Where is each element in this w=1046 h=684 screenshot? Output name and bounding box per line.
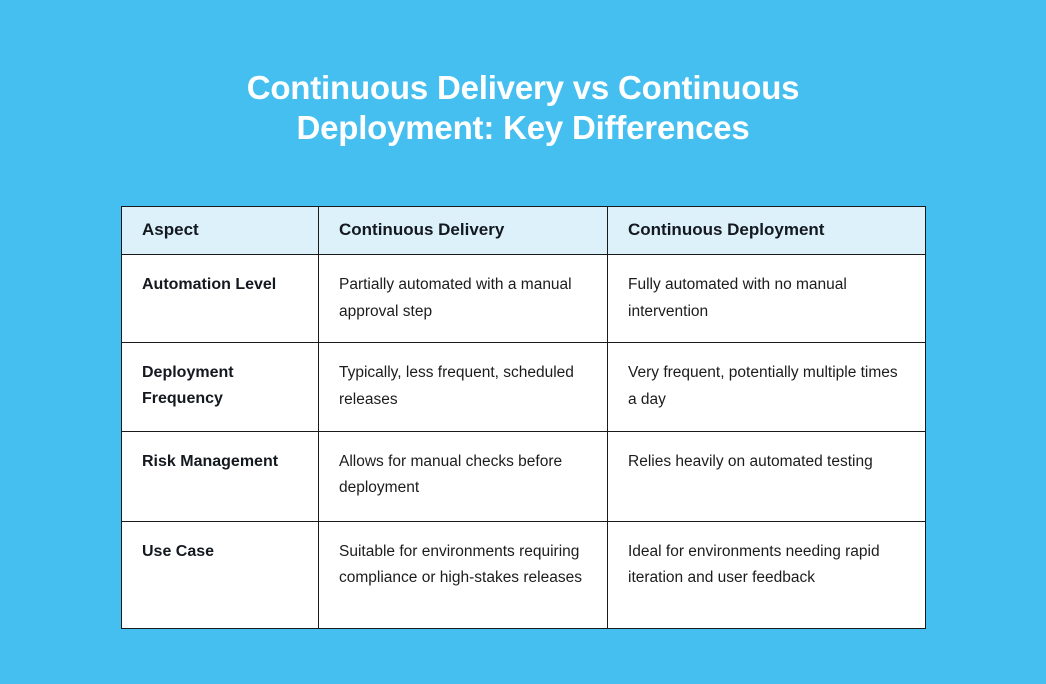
cell-continuous-deployment: Fully automated with no manual intervent…	[608, 255, 926, 343]
cell-continuous-deployment: Ideal for environments needing rapid ite…	[608, 521, 926, 628]
table-row: Deployment Frequency Typically, less fre…	[122, 343, 926, 431]
cell-aspect: Deployment Frequency	[122, 343, 319, 431]
cell-aspect: Use Case	[122, 521, 319, 628]
infographic-page: Continuous Delivery vs Continuous Deploy…	[0, 0, 1046, 684]
column-header-continuous-deployment: Continuous Deployment	[608, 207, 926, 255]
cell-continuous-deployment: Relies heavily on automated testing	[608, 431, 926, 521]
cell-aspect: Automation Level	[122, 255, 319, 343]
table-header-row: Aspect Continuous Delivery Continuous De…	[122, 207, 926, 255]
cell-continuous-delivery: Suitable for environments requiring comp…	[319, 521, 608, 628]
page-title-line-2: Deployment: Key Differences	[296, 109, 749, 146]
page-title: Continuous Delivery vs Continuous Deploy…	[140, 68, 906, 149]
cell-continuous-delivery: Partially automated with a manual approv…	[319, 255, 608, 343]
table-row: Use Case Suitable for environments requi…	[122, 521, 926, 628]
table-row: Risk Management Allows for manual checks…	[122, 431, 926, 521]
cell-continuous-delivery: Allows for manual checks before deployme…	[319, 431, 608, 521]
page-title-line-1: Continuous Delivery vs Continuous	[247, 69, 800, 106]
cell-aspect: Risk Management	[122, 431, 319, 521]
column-header-aspect: Aspect	[122, 207, 319, 255]
table-body: Automation Level Partially automated wit…	[122, 255, 926, 629]
comparison-table: Aspect Continuous Delivery Continuous De…	[121, 206, 926, 629]
table-row: Automation Level Partially automated wit…	[122, 255, 926, 343]
column-header-continuous-delivery: Continuous Delivery	[319, 207, 608, 255]
cell-continuous-delivery: Typically, less frequent, scheduled rele…	[319, 343, 608, 431]
cell-continuous-deployment: Very frequent, potentially multiple time…	[608, 343, 926, 431]
table-header: Aspect Continuous Delivery Continuous De…	[122, 207, 926, 255]
